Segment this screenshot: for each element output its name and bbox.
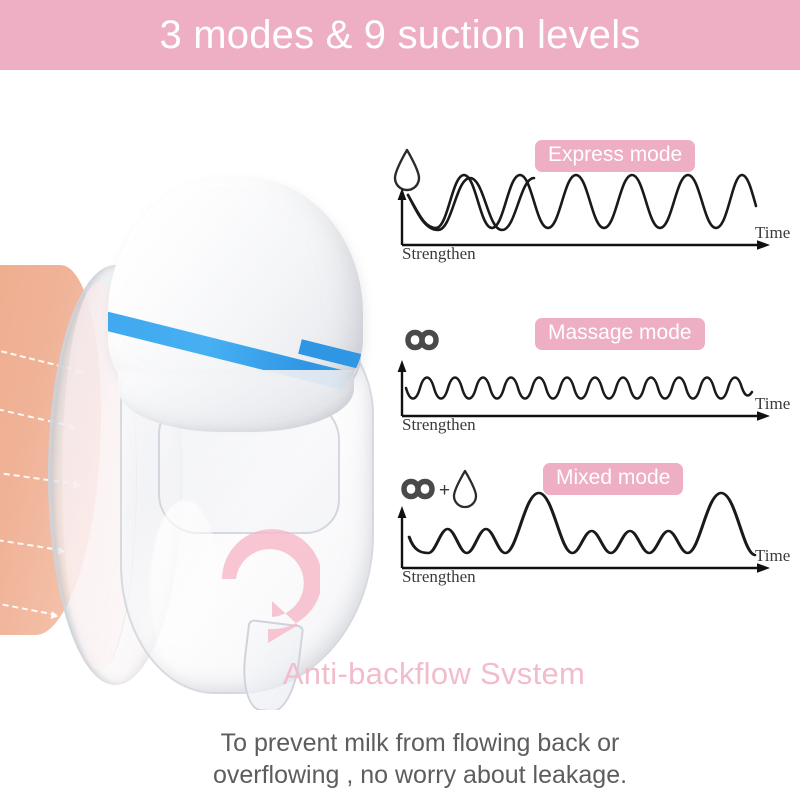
x-axis-label-time: Time <box>755 394 790 414</box>
backflow-arrow-icon <box>212 525 320 643</box>
badge-massage-mode: Massage mode <box>535 318 705 350</box>
x-axis-label-time: Time <box>755 223 790 243</box>
product-photo <box>0 70 395 710</box>
droplet-icon <box>454 471 476 507</box>
anti-backflow-description: To prevent milk from flowing back or ove… <box>0 727 800 791</box>
badge-mixed-mode: Mixed mode <box>543 463 683 495</box>
cup-highlight <box>150 500 220 675</box>
header-banner: 3 modes & 9 suction levels <box>0 0 800 70</box>
y-axis-label-strengthen: Strengthen <box>402 244 476 264</box>
chart-massage-mode: Massage mode Strengthen Time <box>390 318 790 443</box>
x-axis-label-time: Time <box>755 546 790 566</box>
y-axis-label-strengthen: Strengthen <box>402 415 476 435</box>
chart-mixed-mode: Mixed mode + Strengthen Time <box>390 463 790 593</box>
badge-express-mode: Express mode <box>535 140 695 172</box>
description-line-1: To prevent milk from flowing back or <box>40 727 800 759</box>
plus-sign-icon: + <box>439 480 450 501</box>
y-axis-label-strengthen: Strengthen <box>402 567 476 587</box>
chart-express-mode: Express mode Strengthen Time <box>390 140 790 270</box>
infinity-icon <box>408 333 436 348</box>
droplet-icon <box>395 150 419 190</box>
page-title: 3 modes & 9 suction levels <box>159 15 640 55</box>
anti-backflow-title: Anti-backflow Svstem <box>0 656 800 692</box>
description-line-2: overflowing , no worry about leakage. <box>40 759 800 791</box>
infinity-icon <box>404 482 432 497</box>
